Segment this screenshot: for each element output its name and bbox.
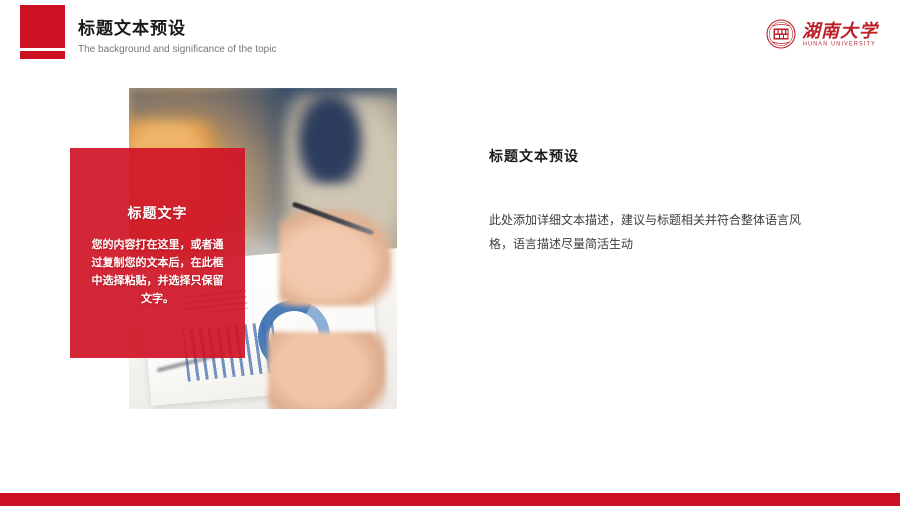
right-section-title: 标题文本预设 <box>489 146 819 166</box>
right-text-column: 标题文本预设 此处添加详细文本描述，建议与标题相关并符合整体语言风格，语言描述尽… <box>489 146 819 256</box>
mark-bar-shape <box>20 51 65 59</box>
mark-square-shape <box>20 5 65 48</box>
page-title: 标题文本预设 <box>78 14 186 39</box>
callout-body-text: 您的内容打在这里，或者通过复制您的文本后，在此框中选择粘贴，并选择只保留文字。 <box>90 236 225 308</box>
page-subtitle: The background and significance of the t… <box>78 44 276 55</box>
photo-hand-upper <box>279 210 392 306</box>
red-square-mark-icon <box>20 5 65 59</box>
slide-header: 标题文本预设 The background and significance o… <box>0 0 900 78</box>
logo-name-en: HUNAN UNIVERSITY <box>803 41 876 48</box>
footer-accent-bar <box>0 493 900 506</box>
callout-title: 标题文字 <box>70 203 245 223</box>
university-logo: 湖南大学 HUNAN UNIVERSITY <box>766 16 884 58</box>
photo-suit-shape <box>295 88 365 184</box>
red-callout-box: 标题文字 您的内容打在这里，或者通过复制您的文本后，在此框中选择粘贴，并选择只保… <box>70 148 245 358</box>
logo-name-cn: 湖南大学 <box>802 17 878 43</box>
logo-wordmark: 湖南大学 HUNAN UNIVERSITY <box>802 16 884 56</box>
right-section-body: 此处添加详细文本描述，建议与标题相关并符合整体语言风格，语言描述尽量简活生动 <box>489 208 819 256</box>
photo-hand-lower <box>268 332 386 409</box>
hunan-university-seal-icon <box>766 19 796 49</box>
